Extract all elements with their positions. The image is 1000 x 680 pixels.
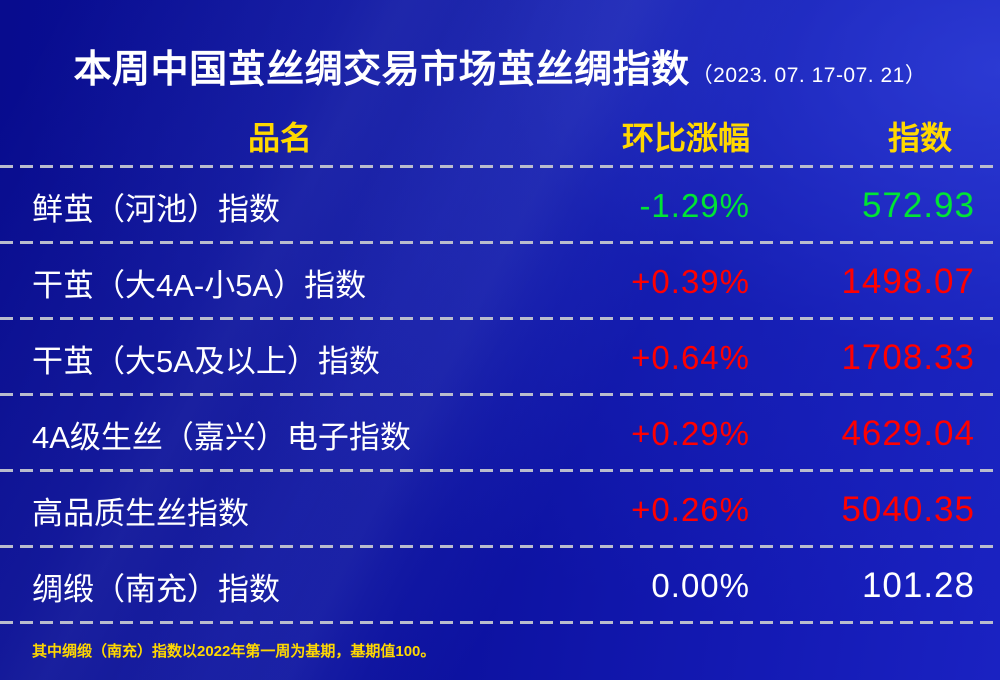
- table-row: 干茧（大5A及以上）指数 +0.64% 1708.33: [0, 320, 1000, 396]
- row-index: 4629.04: [750, 414, 1000, 454]
- row-index: 101.28: [750, 566, 1000, 606]
- row-name: 绸缎（南充）指数: [0, 564, 560, 609]
- column-header-name: 品名: [0, 113, 560, 159]
- row-index: 1498.07: [750, 262, 1000, 302]
- table-row: 绸缎（南充）指数 0.00% 101.28: [0, 548, 1000, 624]
- table-row: 4A级生丝（嘉兴）电子指数 +0.29% 4629.04: [0, 396, 1000, 472]
- table-header-row: 品名 环比涨幅 指数: [0, 103, 1000, 168]
- row-change: +0.26%: [560, 491, 750, 529]
- row-change: +0.64%: [560, 339, 750, 377]
- table-row: 高品质生丝指数 +0.26% 5040.35: [0, 472, 1000, 548]
- row-separator: [0, 621, 1000, 624]
- column-header-change: 环比涨幅: [560, 113, 750, 159]
- column-header-index: 指数: [750, 113, 1000, 159]
- row-name: 干茧（大5A及以上）指数: [0, 336, 560, 381]
- row-change: +0.39%: [560, 263, 750, 301]
- row-index: 572.93: [750, 186, 1000, 226]
- table-row: 鲜茧（河池）指数 -1.29% 572.93: [0, 168, 1000, 244]
- row-name: 高品质生丝指数: [0, 488, 560, 533]
- title-date-range: （2023. 07. 17-07. 21）: [692, 59, 927, 89]
- row-change: -1.29%: [560, 187, 750, 225]
- row-name: 干茧（大4A-小5A）指数: [0, 260, 560, 305]
- footnote-text: 其中绸缎（南充）指数以2022年第一周为基期，基期值100。: [32, 640, 435, 661]
- index-poster: 本周中国茧丝绸交易市场茧丝绸指数 （2023. 07. 17-07. 21） 品…: [0, 0, 1000, 680]
- row-name: 4A级生丝（嘉兴）电子指数: [0, 412, 560, 457]
- row-index: 5040.35: [750, 490, 1000, 530]
- table-row: 干茧（大4A-小5A）指数 +0.39% 1498.07: [0, 244, 1000, 320]
- row-change: 0.00%: [560, 567, 750, 605]
- row-index: 1708.33: [750, 338, 1000, 378]
- poster-title: 本周中国茧丝绸交易市场茧丝绸指数 （2023. 07. 17-07. 21）: [0, 38, 1000, 88]
- index-table: 品名 环比涨幅 指数 鲜茧（河池）指数 -1.29% 572.93 干茧（大4A…: [0, 103, 1000, 624]
- title-main-text: 本周中国茧丝绸交易市场茧丝绸指数: [74, 38, 690, 93]
- row-name: 鲜茧（河池）指数: [0, 184, 560, 229]
- row-change: +0.29%: [560, 415, 750, 453]
